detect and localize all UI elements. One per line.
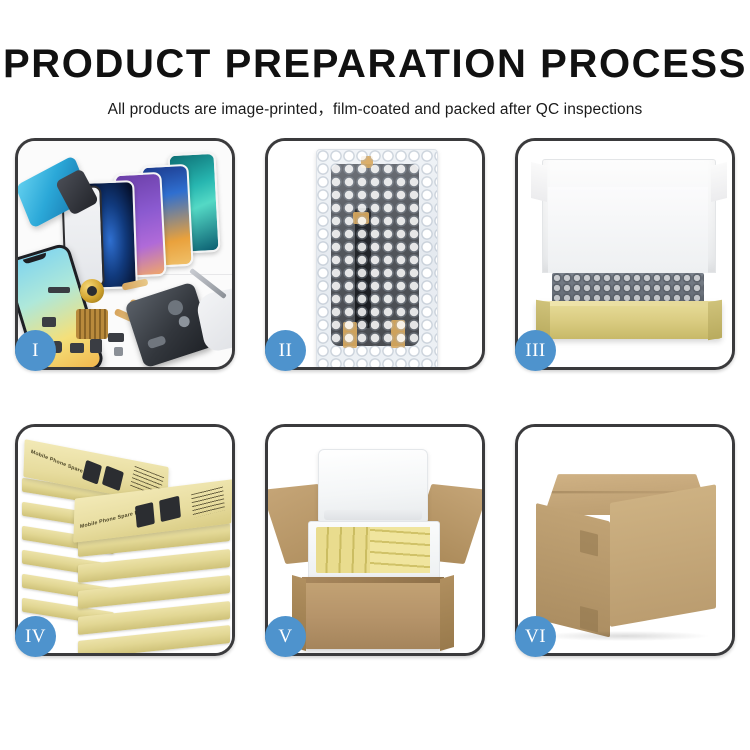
- foam-liner: [548, 187, 708, 273]
- tape-tab-1: [361, 156, 373, 168]
- step-panel-3[interactable]: III: [515, 138, 735, 370]
- step-panel-1[interactable]: I: [15, 138, 235, 370]
- step-badge-4: IV: [15, 616, 56, 657]
- mesh-component: [76, 309, 108, 339]
- step-panel-4[interactable]: Mobile Phone Spare Parts Mobile Phone Sp…: [15, 424, 235, 656]
- box-art-phone-2: [102, 465, 124, 491]
- step-badge-2: II: [265, 330, 306, 371]
- page-subtitle: All products are image-printed，film-coat…: [0, 84, 750, 119]
- carton-top-edge: [302, 577, 444, 583]
- lid-flap-left: [531, 162, 547, 202]
- step-image-6: [518, 427, 732, 653]
- product-preparation-infographic: PRODUCT PREPARATION PROCESS All products…: [0, 0, 750, 750]
- step-badge-3: III: [515, 330, 556, 371]
- carton-drop-shadow: [542, 631, 708, 641]
- box-art-phone-3: [135, 502, 155, 528]
- step-badge-1: I: [15, 330, 56, 371]
- step-badge-6: VI: [515, 616, 556, 657]
- small-part-7: [114, 347, 123, 356]
- small-part-1: [48, 287, 70, 293]
- step-image-3: [518, 141, 732, 367]
- foam-lid-lip: [324, 510, 422, 520]
- step-image-4: Mobile Phone Spare Parts Mobile Phone Sp…: [18, 427, 232, 653]
- screen-flex-cable: [355, 208, 371, 328]
- camera-module-1: [166, 298, 185, 317]
- page-title: PRODUCT PREPARATION PROCESS: [0, 0, 750, 84]
- small-part-5: [90, 339, 102, 353]
- speaker-grille: [147, 335, 167, 349]
- step-panel-5[interactable]: V: [265, 424, 485, 656]
- step-badge-5: V: [265, 616, 306, 657]
- lid-flap-right: [711, 162, 727, 202]
- small-part-4: [70, 343, 84, 353]
- box-edge-right: [708, 300, 722, 340]
- tape-tab-3: [343, 322, 357, 348]
- box-art-phone-4: [159, 496, 181, 522]
- tape-tab-4: [391, 320, 405, 348]
- sealed-carton-right-face: [610, 484, 716, 627]
- box-stack: Mobile Phone Spare Parts Mobile Phone Sp…: [18, 427, 232, 653]
- header: PRODUCT PREPARATION PROCESS All products…: [0, 0, 750, 119]
- kraft-boxes-inside: [316, 527, 430, 573]
- step-panel-6[interactable]: VI: [515, 424, 735, 656]
- sealed-carton-left-face: [536, 503, 610, 637]
- camera-lens-part: [80, 279, 104, 303]
- bubble-wrap-bag: [316, 149, 438, 367]
- step-image-2: [268, 141, 482, 367]
- kraft-boxes-group-2: [370, 527, 430, 573]
- camera-module-2: [177, 315, 191, 329]
- small-part-6: [108, 333, 124, 342]
- step-image-1: [18, 141, 232, 367]
- small-part-2: [42, 317, 56, 327]
- step-image-5: [268, 427, 482, 653]
- foam-cooler-lid: [318, 449, 428, 525]
- tape-patch-bottom: [580, 606, 598, 632]
- box-spec-lines-front: [191, 487, 225, 518]
- carton-side-right: [440, 575, 454, 651]
- wrapped-screen-assembly: [331, 164, 419, 346]
- kraft-box-body: [536, 301, 722, 339]
- process-step-grid: I II: [15, 138, 735, 688]
- carton-front-panel: [302, 577, 444, 649]
- tape-patch-top: [580, 530, 598, 556]
- tape-tab-2: [353, 212, 369, 224]
- box-art-phone-1: [82, 460, 102, 485]
- step-panel-2[interactable]: II: [265, 138, 485, 370]
- box-rim: [536, 301, 722, 306]
